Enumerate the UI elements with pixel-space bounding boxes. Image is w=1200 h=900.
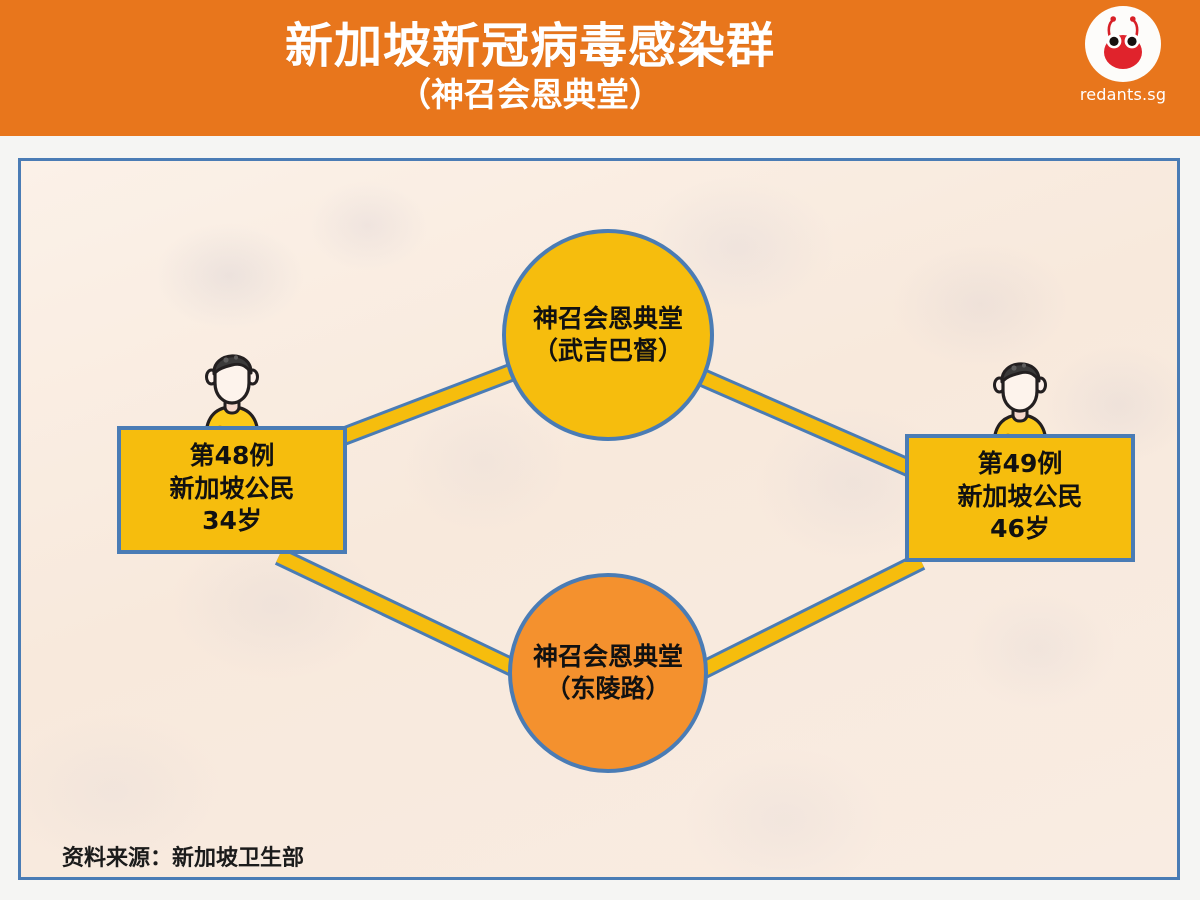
edge-case49-to-bukit-batok xyxy=(676,366,921,473)
case-48-card[interactable]: 第48例 新加坡公民 34岁 xyxy=(117,426,347,554)
case-number-label: 第48例 xyxy=(190,440,275,473)
brand-block: redants.sg xyxy=(1068,6,1178,128)
node-label-line: 神召会恩典堂 xyxy=(533,641,683,673)
title-block: 新加坡新冠病毒感染群 （神召会恩典堂） xyxy=(0,0,1060,136)
red-ant-logo-icon xyxy=(1085,6,1161,82)
age-label: 34岁 xyxy=(202,505,262,538)
source-label: 资料来源：新加坡卫生部 xyxy=(62,840,304,872)
case-number-label: 第49例 xyxy=(978,448,1063,481)
age-label: 46岁 xyxy=(990,513,1050,546)
edge-case48-to-tanglin xyxy=(279,556,541,681)
node-label-line: 神召会恩典堂 xyxy=(533,303,683,335)
node-church-tanglin[interactable]: 神召会恩典堂 （东陵路） xyxy=(508,573,708,773)
diagram-panel: 神召会恩典堂 （武吉巴督） 神召会恩典堂 （东陵路） xyxy=(18,158,1180,880)
node-church-bukit-batok[interactable]: 神召会恩典堂 （武吉巴督） xyxy=(502,229,714,441)
nationality-label: 新加坡公民 xyxy=(957,481,1082,514)
page-title: 新加坡新冠病毒感染群 xyxy=(285,22,775,72)
infographic-canvas: 新加坡新冠病毒感染群 （神召会恩典堂） xyxy=(0,0,1200,900)
header-banner: 新加坡新冠病毒感染群 （神召会恩典堂） xyxy=(0,0,1200,136)
nationality-label: 新加坡公民 xyxy=(169,473,294,506)
page-subtitle: （神召会恩典堂） xyxy=(398,76,662,114)
brand-name: redants.sg xyxy=(1080,85,1166,104)
node-label-line: （武吉巴督） xyxy=(533,335,683,367)
edge-case49-to-tanglin xyxy=(681,561,921,681)
node-label-line: （东陵路） xyxy=(545,673,670,705)
case-49-card[interactable]: 第49例 新加坡公民 46岁 xyxy=(905,434,1135,562)
